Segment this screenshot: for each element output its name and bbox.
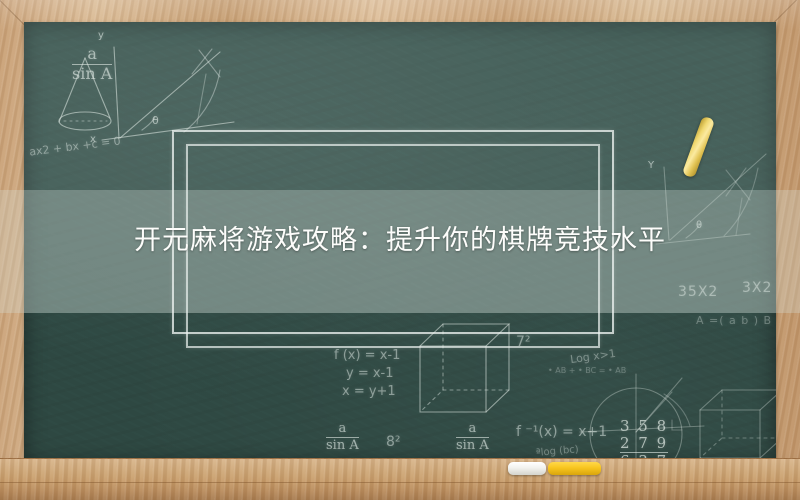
expression-3x2: 3X2 (742, 280, 772, 296)
eight-squared: 8² (386, 434, 401, 450)
function-line-1: f (x) = x-1 (334, 348, 400, 363)
chalk-stick-yellow-on-ledge[interactable] (548, 462, 601, 475)
axis-label-x-topleft: x (90, 134, 96, 145)
column-addition-bottom: 2 7 9 (620, 435, 668, 452)
matrix-expression: A =( a b ) B =( c d ) = ( e f ) (696, 314, 776, 327)
axis-label-y-topleft: y (98, 30, 104, 41)
expression-35x2: 35X2 (678, 284, 718, 300)
angle-theta-topleft: θ (152, 114, 159, 127)
axis-label-y-right: Y (648, 160, 654, 171)
eraser-white-on-ledge[interactable] (508, 462, 546, 475)
segment-sum-text: • AB + • BC = • AB (548, 366, 626, 375)
column-addition-top: 3 5 8 (620, 418, 668, 435)
inverse-function-expression: f ⁻¹(x) = x+1 (516, 424, 607, 440)
fraction-a-over-sinA-bottomleft: a sin A (326, 422, 359, 452)
chalkboard-title-card: a sin A ax2 + bx +c = 0 y x θ Y θ 35X2 3… (0, 0, 800, 500)
function-line-3: x = y+1 (342, 384, 396, 399)
chalk-ledge (0, 458, 800, 500)
inner-chalk-rectangle (186, 144, 600, 348)
function-line-2: y = x-1 (346, 366, 394, 381)
fraction-a-over-sinA-bottomcenter: a sin A (456, 422, 489, 452)
fraction-a-over-sinA-topleft: a sin A (72, 46, 112, 83)
angle-theta-right: θ (696, 220, 702, 231)
